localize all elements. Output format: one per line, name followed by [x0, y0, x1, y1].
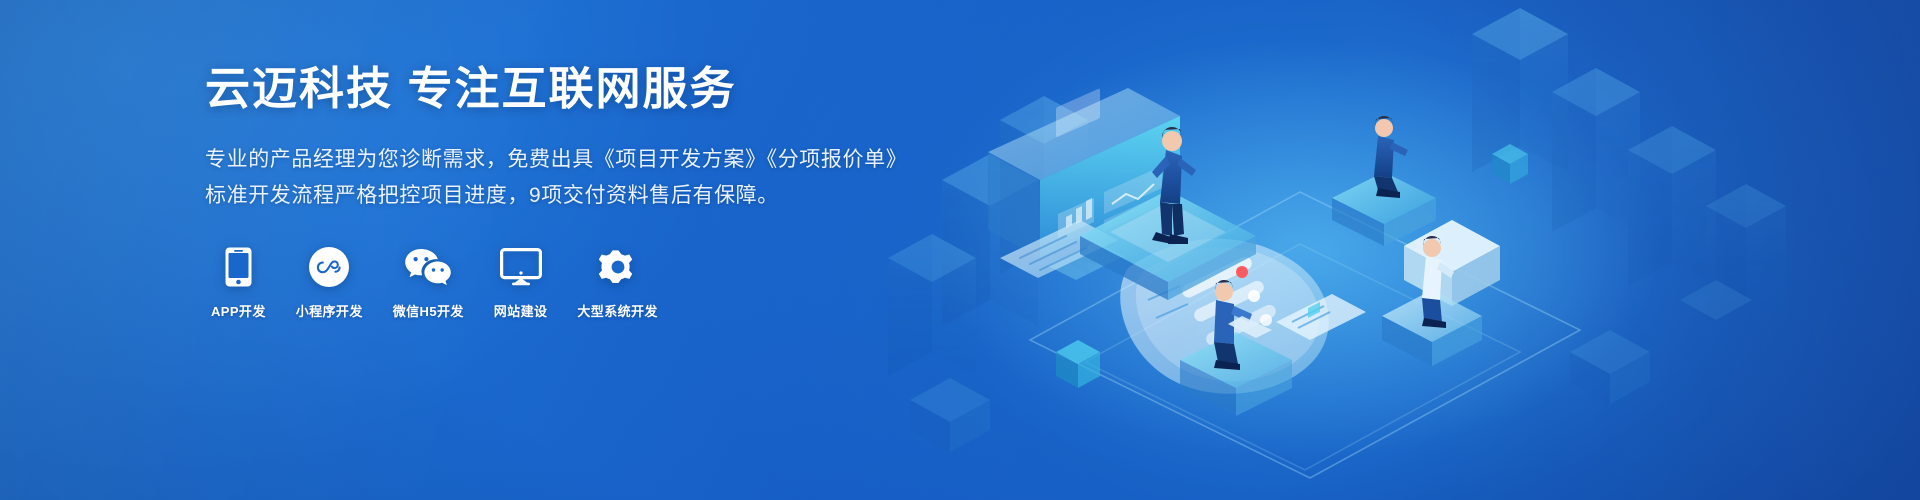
service-item-system[interactable]: 大型系统开发: [577, 246, 657, 320]
service-label-miniprogram: 小程序开发: [296, 301, 363, 320]
subtitle-block: 专业的产品经理为您诊断需求，免费出具《项目开发方案》《分项报价单》 标准开发流程…: [205, 142, 925, 214]
banner-content: 云迈科技 专注互联网服务 专业的产品经理为您诊断需求，免费出具《项目开发方案》《…: [205, 62, 925, 320]
promo-banner: 云迈科技 专注互联网服务 专业的产品经理为您诊断需求，免费出具《项目开发方案》《…: [0, 0, 1920, 500]
gear-icon: [598, 246, 638, 288]
isometric-data-platform-illustration: [880, 0, 1920, 500]
service-label-wechat: 微信H5开发: [393, 301, 464, 320]
service-label-system: 大型系统开发: [577, 301, 657, 320]
service-item-miniprogram[interactable]: 小程序开发: [296, 246, 363, 320]
monitor-icon: [500, 246, 542, 288]
service-label-app: APP开发: [211, 301, 266, 320]
subtitle-line-2: 标准开发流程严格把控项目进度，9项交付资料售后有保障。: [205, 178, 925, 214]
page-title: 云迈科技 专注互联网服务: [205, 62, 925, 116]
service-item-website[interactable]: 网站建设: [494, 246, 548, 320]
wechat-icon: [404, 246, 452, 288]
service-item-wechat[interactable]: 微信H5开发: [393, 246, 464, 320]
service-list: APP开发 小程序开发: [211, 246, 925, 320]
subtitle-line-1: 专业的产品经理为您诊断需求，免费出具《项目开发方案》《分项报价单》: [205, 142, 925, 178]
service-label-website: 网站建设: [494, 301, 548, 320]
mini-program-icon: [309, 246, 349, 288]
service-item-app[interactable]: APP开发: [211, 246, 266, 320]
mobile-phone-icon: [225, 246, 252, 288]
